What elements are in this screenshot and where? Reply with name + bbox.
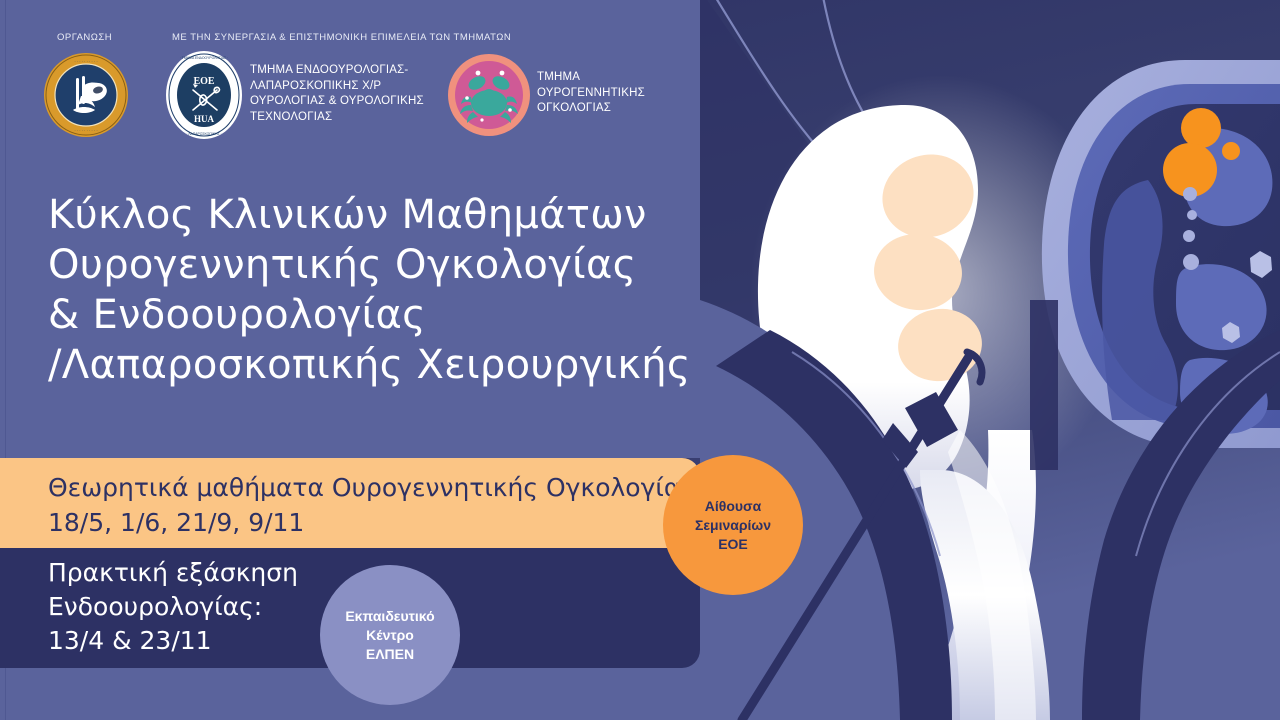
venue-badge-elpen: Εκπαιδευτικό Κέντρο ΕΛΠΕΝ (320, 565, 460, 705)
cooperation-label: ΜΕ ΤΗΝ ΣΥΝΕΡΓΑΣΙΑ & ΕΠΙΣΤΗΜΟΝΙΚΗ ΕΠΙΜΕΛΕ… (172, 32, 511, 43)
svg-text:· · · · · · · · · ·: · · · · · · · · · · (74, 59, 97, 64)
endourology-section-logo: ΕΟΕ HUA · ΤΜΗΜΑ ΕΝΔΟΟΥΡΟΛΟΓΙΑΣ · · ΛΑΠΑΡ… (165, 50, 243, 140)
practice-text: Πρακτική εξάσκηση Ενδοουρολογίας: 13/4 &… (48, 556, 298, 658)
practice-dates: 13/4 & 23/11 (48, 624, 298, 658)
hellenic-urological-association-logo: · · · · · · · · · · · · · · · · · · · · (43, 52, 129, 138)
svg-text:· ΛΑΠΑΡΟΣΚΟΠΙΚΗΣ ·: · ΛΑΠΑΡΟΣΚΟΠΙΚΗΣ · (186, 132, 221, 136)
venue-badge-eoe-label: Αίθουσα Σεμιναρίων ΕΟΕ (695, 497, 771, 554)
svg-text:· · · · · · · · · ·: · · · · · · · · · · (74, 128, 97, 133)
organizer-label: ΟΡΓΑΝΩΣΗ (57, 32, 112, 43)
title-line-4: /Λαπαροσκοπικής Χειρουργικής (48, 340, 708, 390)
practice-heading-2: Ενδοουρολογίας: (48, 590, 298, 624)
title-line-3: & Ενδοουρολογίας (48, 290, 708, 340)
title-line-2: Ουρογεννητικής Ογκολογίας (48, 240, 708, 290)
uro-oncology-section-logo (447, 53, 531, 137)
theory-text: Θεωρητικά μαθήματα Ουρογεννητικής Ογκολο… (48, 470, 703, 540)
department-urooncology-label: ΤΜΗΜΑ ΟΥΡΟΓΕΝΝΗΤΙΚΗΣ ΟΓΚΟΛΟΓΙΑΣ (537, 70, 697, 117)
theory-dates: 18/5, 1/6, 21/9, 9/11 (48, 505, 703, 540)
theory-heading: Θεωρητικά μαθήματα Ουρογεννητικής Ογκολο… (48, 470, 703, 505)
department-endourology-label: ΤΜΗΜΑ ΕΝΔΟΟΥΡΟΛΟΓΙΑΣ- ΛΑΠΑΡΟΣΚΟΠΙΚΗΣ Χ/Ρ… (250, 63, 440, 125)
page-title: Κύκλος Κλινικών Μαθημάτων Ουρογεννητικής… (48, 190, 708, 390)
dept-line: ΤΜΗΜΑ ΕΝΔΟΟΥΡΟΛΟΓΙΑΣ- ΛΑΠΑΡΟΣΚΟΠΙΚΗΣ Χ/Ρ… (250, 64, 424, 123)
svg-text:· ΤΜΗΜΑ ΕΝΔΟΟΥΡΟΛΟΓΙΑΣ ·: · ΤΜΗΜΑ ΕΝΔΟΟΥΡΟΛΟΓΙΑΣ · (180, 56, 228, 60)
poster-canvas: ΟΡΓΑΝΩΣΗ ΜΕ ΤΗΝ ΣΥΝΕΡΓΑΣΙΑ & ΕΠΙΣΤΗΜΟΝΙΚ… (0, 0, 1280, 720)
venue-badge-elpen-label: Εκπαιδευτικό Κέντρο ΕΛΠΕΝ (345, 607, 434, 664)
practice-heading-1: Πρακτική εξάσκηση (48, 556, 298, 590)
title-line-1: Κύκλος Κλινικών Μαθημάτων (48, 190, 708, 240)
header: ΟΡΓΑΝΩΣΗ ΜΕ ΤΗΝ ΣΥΝΕΡΓΑΣΙΑ & ΕΠΙΣΤΗΜΟΝΙΚ… (0, 0, 700, 160)
dept-line: ΤΜΗΜΑ ΟΥΡΟΓΕΝΝΗΤΙΚΗΣ ΟΓΚΟΛΟΓΙΑΣ (537, 71, 645, 114)
venue-badge-eoe: Αίθουσα Σεμιναρίων ΕΟΕ (663, 455, 803, 595)
theory-courses-band: Θεωρητικά μαθήματα Ουρογεννητικής Ογκολο… (0, 458, 700, 548)
svg-text:HUA: HUA (194, 114, 215, 124)
